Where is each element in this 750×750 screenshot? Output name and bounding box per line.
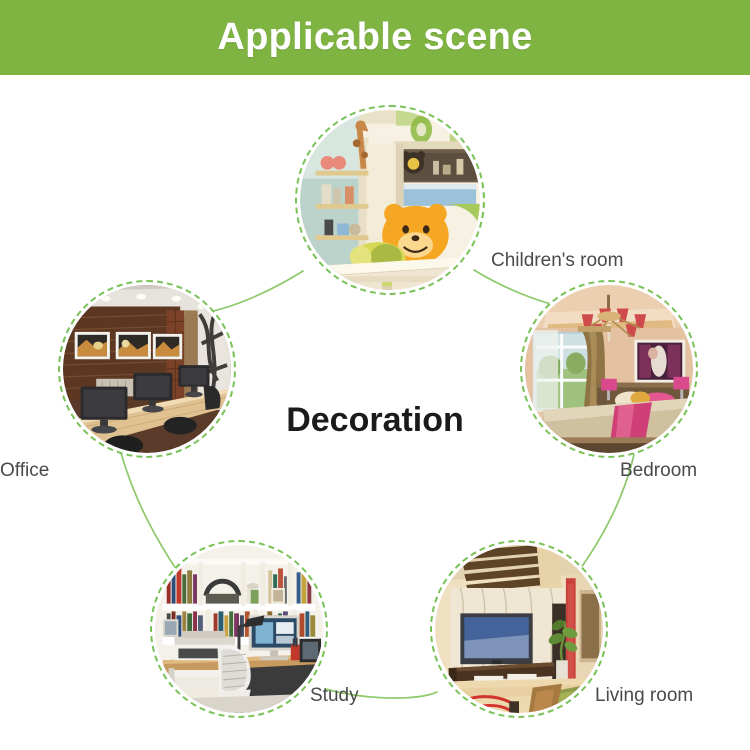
study-room-photo [155, 545, 323, 713]
study-circle[interactable] [150, 540, 328, 718]
node-children-room[interactable]: Children's room [295, 105, 485, 295]
node-label-bedroom: Bedroom [620, 460, 697, 482]
office-circle[interactable] [58, 280, 236, 458]
bedroom-circle[interactable] [520, 280, 698, 458]
node-office[interactable]: Office [58, 280, 236, 458]
bedroom-photo [525, 285, 693, 453]
node-study[interactable]: Study [150, 540, 328, 718]
node-label-living-room: Living room [595, 685, 693, 707]
living-room-photo [435, 545, 603, 713]
node-label-study: Study [310, 685, 359, 707]
applicable-scene-graphic: Applicable scene Decoration [0, 0, 750, 750]
children-room-photo [300, 110, 480, 290]
node-living-room[interactable]: Living room [430, 540, 608, 718]
node-label-children-room: Children's room [491, 250, 623, 272]
header-banner: Applicable scene [0, 0, 750, 75]
page-title: Applicable scene [217, 16, 532, 59]
office-photo [63, 285, 231, 453]
node-bedroom[interactable]: Bedroom [520, 280, 698, 458]
children-room-circle[interactable] [295, 105, 485, 295]
scene-diagram: Decoration [0, 75, 750, 750]
node-label-office: Office [0, 460, 49, 482]
living-room-circle[interactable] [430, 540, 608, 718]
